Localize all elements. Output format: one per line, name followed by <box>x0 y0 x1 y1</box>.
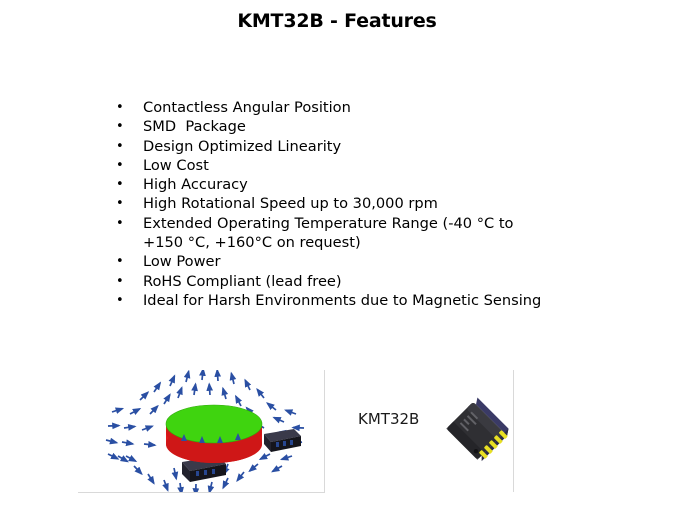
package-figure: KMT32B <box>340 370 514 492</box>
list-item-label: Contactless Angular Position <box>143 98 630 117</box>
bullet-icon: • <box>110 272 143 291</box>
list-item: • Extended Operating Temperature Range (… <box>110 214 630 253</box>
list-item: • Low Cost <box>110 156 630 175</box>
list-item: • Design Optimized Linearity <box>110 137 630 156</box>
bullet-icon: • <box>110 291 143 310</box>
bullet-icon: • <box>110 156 143 175</box>
list-item: • Ideal for Harsh Environments due to Ma… <box>110 291 630 310</box>
list-item-label: High Accuracy <box>143 175 630 194</box>
package-label: KMT32B <box>358 410 419 428</box>
bullet-icon: • <box>110 252 143 271</box>
sensor-package-side <box>264 429 301 452</box>
list-item: • SMD Package <box>110 117 630 136</box>
kmt32b-package-icon <box>435 382 517 478</box>
list-item: • High Accuracy <box>110 175 630 194</box>
page-title: KMT32B - Features <box>0 10 674 32</box>
bullet-icon: • <box>110 194 143 213</box>
slide: KMT32B - Features • Contactless Angular … <box>0 0 674 506</box>
bullet-icon: • <box>110 214 143 233</box>
list-item-label: Extended Operating Temperature Range (-4… <box>143 214 630 253</box>
bullet-icon: • <box>110 117 143 136</box>
bullet-icon: • <box>110 137 143 156</box>
list-item-label: Low Cost <box>143 156 630 175</box>
figure-area: KMT32B <box>0 360 674 506</box>
list-item: • RoHS Compliant (lead free) <box>110 272 630 291</box>
list-item-label: RoHS Compliant (lead free) <box>143 272 630 291</box>
list-item-label: Design Optimized Linearity <box>143 137 630 156</box>
list-item-label: SMD Package <box>143 117 630 136</box>
bullet-icon: • <box>110 98 143 117</box>
magnetic-field-illustration <box>78 370 325 493</box>
bullet-icon: • <box>110 175 143 194</box>
list-item-label: Low Power <box>143 252 630 271</box>
list-item: • Contactless Angular Position <box>110 98 630 117</box>
list-item: • Low Power <box>110 252 630 271</box>
list-item-label: High Rotational Speed up to 30,000 rpm <box>143 194 630 213</box>
magnet <box>166 405 262 463</box>
list-item-label: Ideal for Harsh Environments due to Magn… <box>143 291 630 310</box>
feature-bullet-list: • Contactless Angular Position • SMD Pac… <box>110 98 630 310</box>
list-item: • High Rotational Speed up to 30,000 rpm <box>110 194 630 213</box>
